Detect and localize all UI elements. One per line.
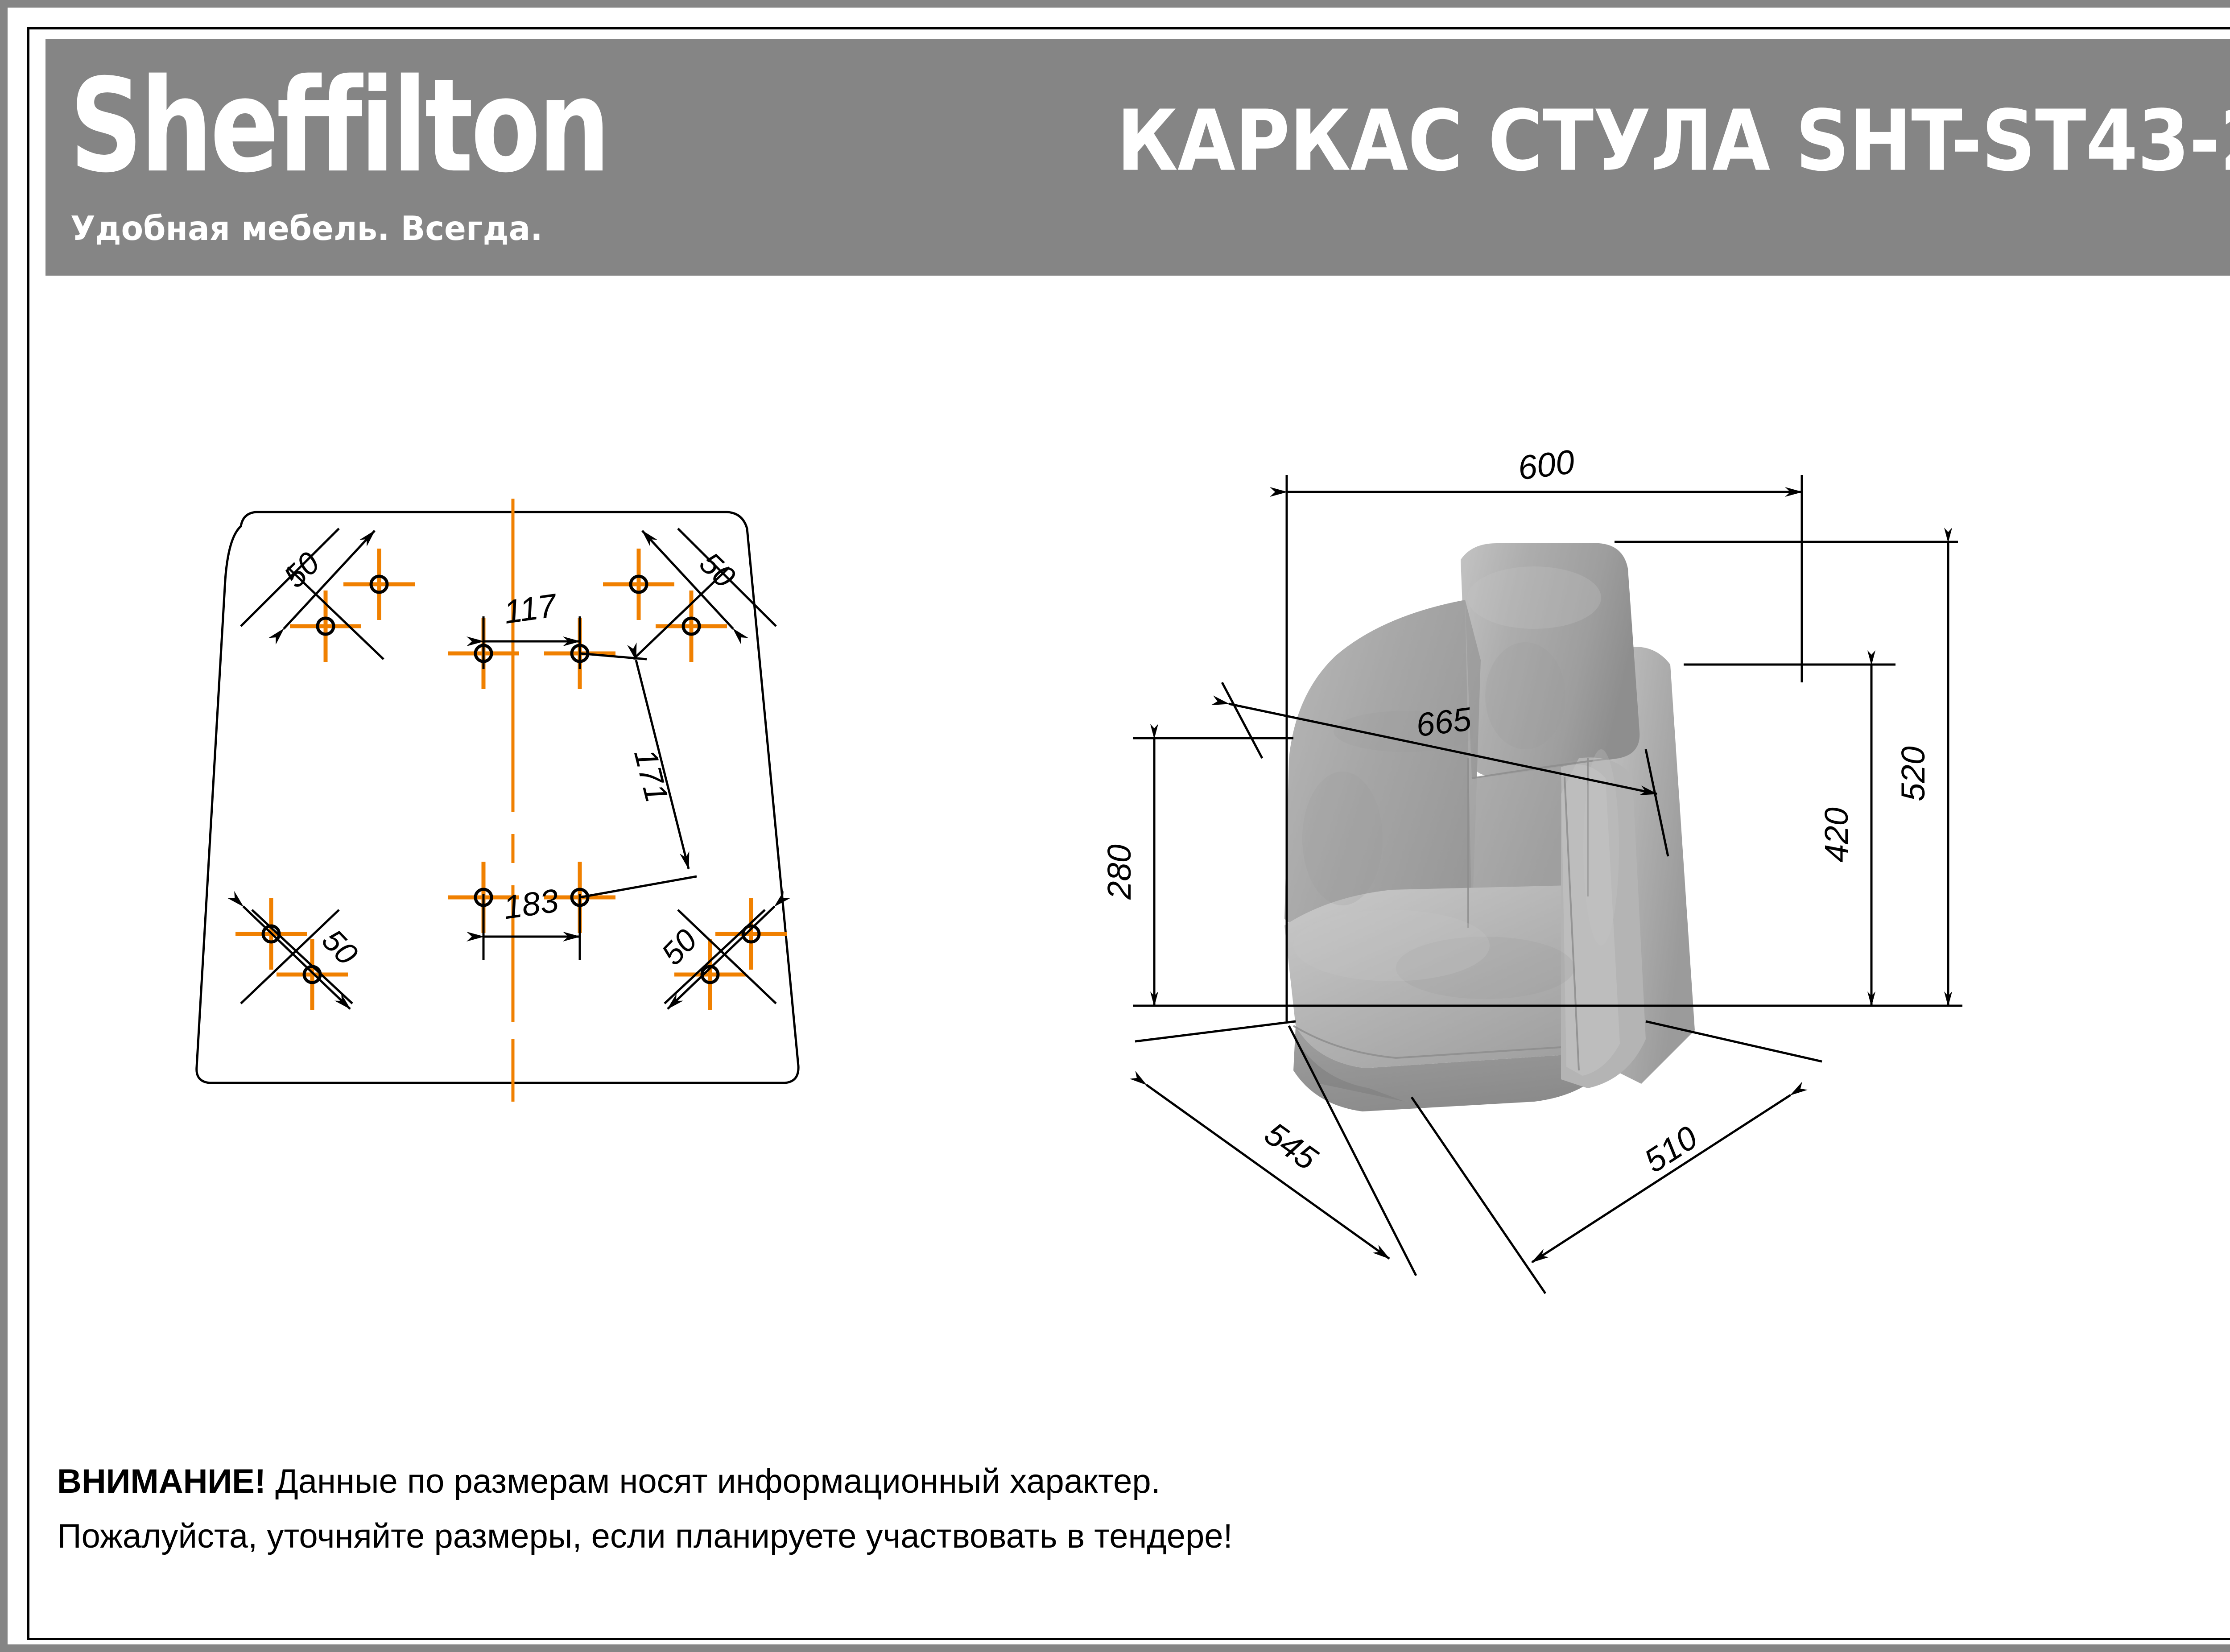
page-title: КАРКАС СТУЛА SHT-ST43-2 [1117,92,2230,190]
footer-note: ВНИМАНИЕ! Данные по размерам носят инфор… [57,1454,1841,1564]
attention-text: Данные по размерам носят информационный … [266,1462,1160,1500]
header-bar: Sheffilton Удобная мебель. Всегда. КАРКА… [45,39,2230,276]
footer-line-1: ВНИМАНИЕ! Данные по размерам носят инфор… [57,1454,1841,1509]
brand-logo: Sheffilton Удобная мебель. Всегда. [66,53,592,262]
logo-tagline: Удобная мебель. Всегда. [70,209,543,248]
logo-wordmark: Sheffilton [70,62,608,190]
footer-line-2: Пожалуйста, уточняйте размеры, если план… [57,1509,1841,1564]
attention-label: ВНИМАНИЕ! [57,1462,266,1500]
